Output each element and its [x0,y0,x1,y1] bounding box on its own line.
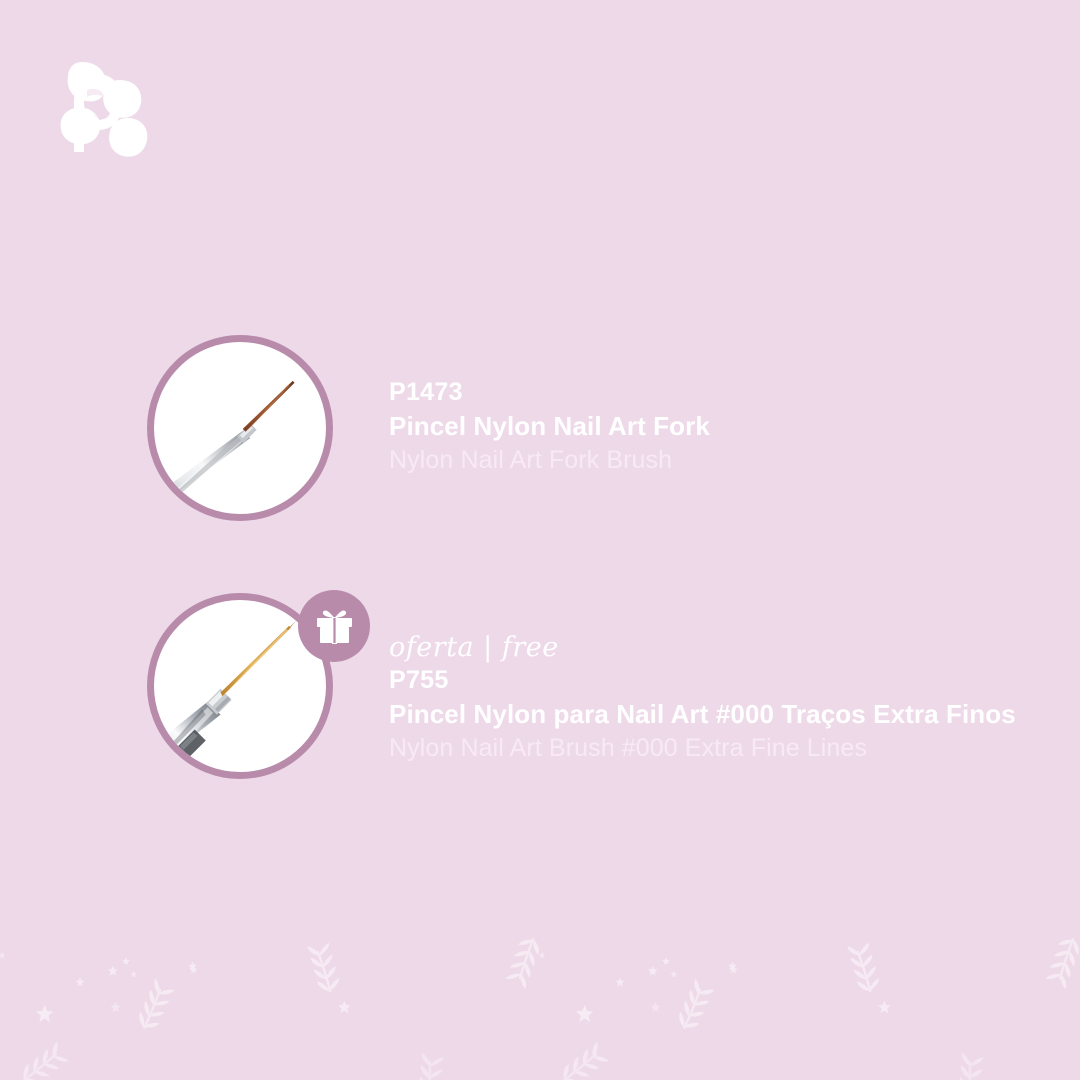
flower-pinwheel-logo-icon [46,56,156,166]
decorative-botanical-band [0,930,1080,1080]
thumbnail-circle [147,335,333,521]
botanical-sprigs-and-stars-pattern [0,930,1080,1080]
product-name-pt: Pincel Nylon para Nail Art #000 Traços E… [389,697,1049,731]
product-sku: P755 [389,665,1049,695]
promo-card: P1473 Pincel Nylon Nail Art Fork Nylon N… [0,0,1080,1080]
gift-badge[interactable] [298,590,370,662]
product-name-en: Nylon Nail Art Brush #000 Extra Fine Lin… [389,732,1049,765]
product-text-block: P1473 Pincel Nylon Nail Art Fork Nylon N… [389,335,1049,477]
product-thumbnail[interactable] [147,593,333,779]
product-thumbnail[interactable] [147,335,333,521]
product-name-en: Nylon Nail Art Fork Brush [389,444,1049,477]
product-name-pt: Pincel Nylon Nail Art Fork [389,409,1049,443]
product-row[interactable]: P1473 Pincel Nylon Nail Art Fork Nylon N… [0,335,1080,525]
product-row[interactable]: oferta | free P755 Pincel Nylon para Nai… [0,593,1080,783]
product-sku: P1473 [389,377,1049,407]
brand-logo[interactable] [46,56,156,166]
offer-tag: oferta | free [389,633,1049,663]
nail-art-fork-brush-photo [154,342,326,514]
gift-box-icon [314,605,355,646]
product-text-block: oferta | free P755 Pincel Nylon para Nai… [389,593,1049,765]
